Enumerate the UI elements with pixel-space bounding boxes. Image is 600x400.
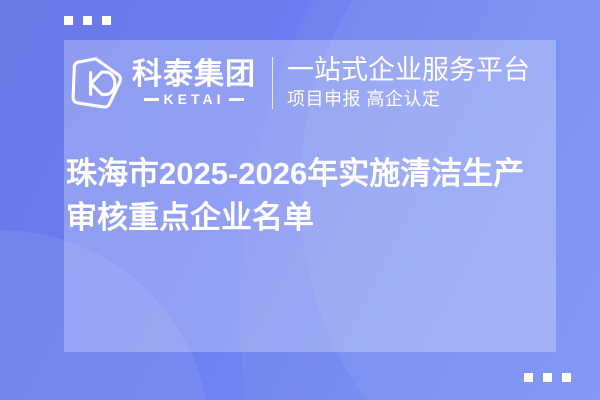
decorative-dots-bottom-right (524, 373, 571, 382)
brand-name-en-row: KETAI (144, 92, 245, 106)
decorative-dot (64, 16, 73, 25)
decorative-dot (562, 373, 571, 382)
tagline-secondary: 项目申报 高企认定 (287, 88, 530, 111)
ketai-diamond-monogram-icon (68, 54, 126, 112)
decorative-dot (83, 16, 92, 25)
rule-right (229, 98, 244, 101)
brand-header: 科泰集团 KETAI 一站式企业服务平台 项目申报 高企认定 (64, 44, 556, 122)
tagline-primary: 一站式企业服务平台 (287, 55, 530, 85)
brand-wordmark: 科泰集团 KETAI (132, 60, 256, 107)
decorative-dot (543, 373, 552, 382)
poster-headline: 珠海市2025-2026年实施清洁生产审核重点企业名单 (66, 152, 554, 240)
brand-name-en: KETAI (164, 92, 225, 106)
decorative-dot (524, 373, 533, 382)
brand-name-cn: 科泰集团 (132, 60, 256, 91)
decorative-dots-top-left (64, 16, 111, 25)
brand-divider (272, 57, 273, 109)
brand-taglines: 一站式企业服务平台 项目申报 高企认定 (287, 55, 530, 112)
brand-logo-lockup: 科泰集团 KETAI (68, 54, 256, 112)
content-panel: 科泰集团 KETAI 一站式企业服务平台 项目申报 高企认定 珠海市2025-2… (64, 40, 556, 352)
promo-poster: 科泰集团 KETAI 一站式企业服务平台 项目申报 高企认定 珠海市2025-2… (0, 0, 600, 400)
decorative-dot (102, 16, 111, 25)
rule-left (144, 98, 159, 101)
